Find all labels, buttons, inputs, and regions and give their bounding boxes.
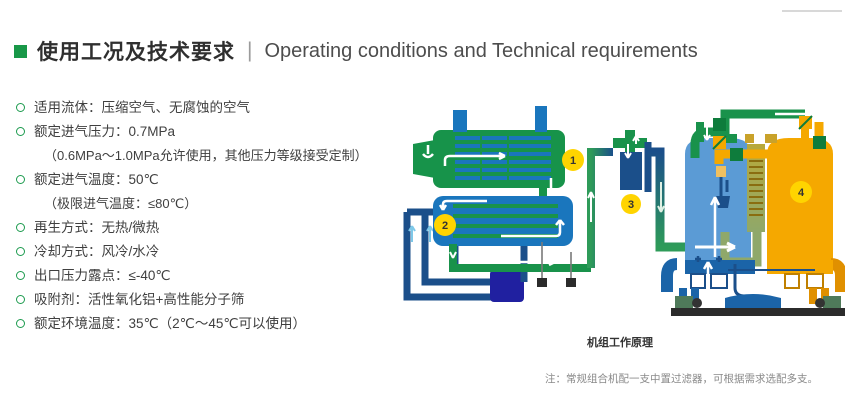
drain-valve-right [566,278,576,287]
drain-valve-left [537,278,547,287]
list-item: 冷却方式：风冷/水冷 [16,242,416,261]
heat-exchanger-unit: 1 [413,106,584,202]
water-separator: 3 [613,130,648,214]
diagram-note: 注：常规组合机配一支中置过滤器，可根据需求选配多支。 [545,371,818,386]
valve-lower-center [730,148,743,161]
valve-bottom-1 [691,274,705,288]
green-square-icon [14,45,27,58]
pump-block [490,270,524,302]
circle-bullet-icon [16,127,25,136]
valve-mid-left [725,134,737,143]
page-title-en: Operating conditions and Technical requi… [264,40,697,63]
spec-inlet-temperature-note: （极限进气温度：≤80℃） [44,194,416,213]
list-item: 吸附剂：活性氧化铝+高性能分子筛 [16,290,416,309]
list-item: 出口压力露点：≤-40℃ [16,266,416,285]
spec-ambient-temperature: 额定环境温度：35℃（2℃～45℃可以使用） [34,314,306,333]
circle-bullet-icon [16,103,25,112]
cooler-unit: 2 [433,196,573,246]
valve-center-top [745,134,754,143]
circle-bullet-icon [16,319,25,328]
base-plate [671,308,845,316]
valve-top-left [713,118,726,131]
base-frame [671,288,845,316]
callout-1-label: 1 [570,155,576,167]
circle-bullet-icon [16,247,25,256]
spec-inlet-pressure-note: （0.6MPa～1.0MPa允许使用，其他压力等级接受定制） [44,146,416,165]
list-item: 额定环境温度：35℃（2℃～45℃可以使用） [16,314,416,333]
spec-cooling-method: 冷却方式：风冷/水冷 [34,242,159,261]
page-title-cn: 使用工况及技术要求 [37,36,235,66]
diagram-caption: 机组工作原理 [587,334,653,350]
page-header: 使用工况及技术要求 | Operating conditions and Tec… [14,36,698,66]
foot-left [675,296,693,310]
twin-tower-dryer: 4 [667,110,845,316]
circle-bullet-icon [16,223,25,232]
list-item: 额定进气温度：50℃ [16,170,416,189]
equipment-principle-diagram: 1 2 3 [395,92,845,332]
spec-fluid-type: 适用流体：压缩空气、无腐蚀的空气 [34,98,250,117]
callout-4-label: 4 [798,187,805,199]
valve-bottom-4 [807,274,823,288]
valve-bottom-2 [711,274,727,288]
callout-2-label: 2 [442,220,448,232]
spec-outlet-dew-point: 出口压力露点：≤-40℃ [34,266,171,285]
list-item: 适用流体：压缩空气、无腐蚀的空气 [16,98,416,117]
corner-rule [782,10,842,12]
spec-adsorbent: 吸附剂：活性氧化铝+高性能分子筛 [34,290,244,309]
valve-switch-right [813,136,826,149]
valve-bottom-3 [785,274,799,288]
spec-inlet-pressure: 额定进气压力：0.7MPa [34,122,175,141]
circle-bullet-icon [16,271,25,280]
circle-bullet-icon [16,175,25,184]
list-item: 额定进气压力：0.7MPa [16,122,416,141]
spec-inlet-temperature: 额定进气温度：50℃ [34,170,159,189]
circle-bullet-icon [16,295,25,304]
instrument-box [716,166,726,177]
callout-3-label: 3 [628,199,634,211]
separator-riser [588,152,613,268]
valve-mid-right [765,134,777,143]
title-separator: | [247,39,252,63]
specifications-list: 适用流体：压缩空气、无腐蚀的空气 额定进气压力：0.7MPa （0.6MPa～1… [16,98,416,338]
list-item: 再生方式：无热/微热 [16,218,416,237]
spec-regeneration-method: 再生方式：无热/微热 [34,218,159,237]
foot-right [823,296,841,310]
